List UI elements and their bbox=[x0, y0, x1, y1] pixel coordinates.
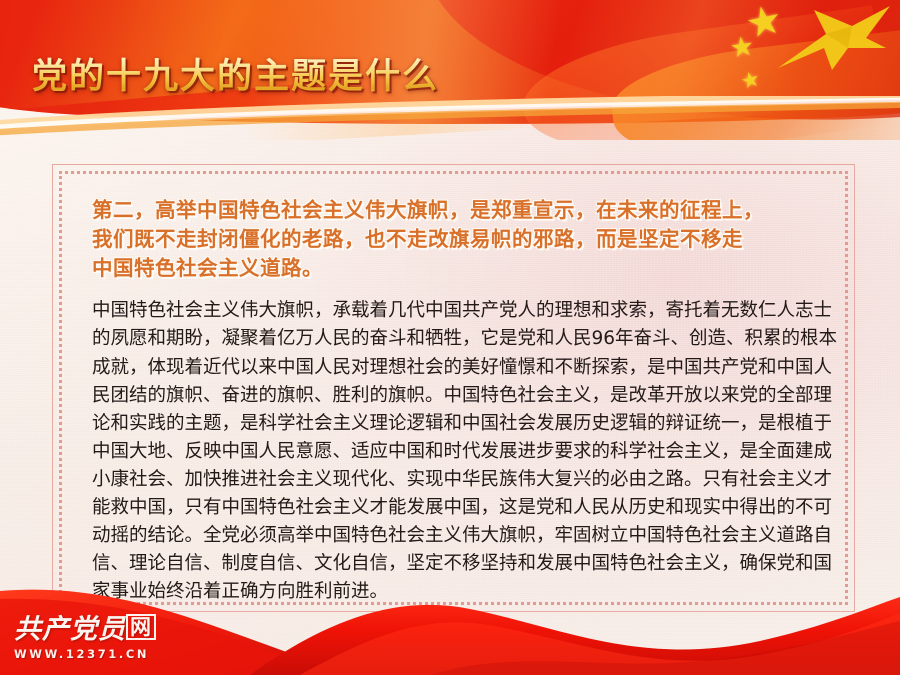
body-line: 能救中国，只有中国特色社会主义才能发展中国，这是党和人民从历史和现实中得出的不可 bbox=[92, 494, 815, 522]
body-line: 中国特色社会主义伟大旗帜，承载着几代中国共产党人的理想和求索，寄托着无数仁人志士 bbox=[92, 297, 815, 325]
page-title: 党的十九大的主题是什么 bbox=[32, 48, 439, 99]
poster-root: ★ ★ ★ 党的十九大的主题是什么 第二，高举中国特色社会主义伟大旗帜，是郑重宣… bbox=[0, 0, 900, 675]
content-card: 第二，高举中国特色社会主义伟大旗帜，是郑重宣示，在未来的征程上， 我们既不走封闭… bbox=[52, 164, 855, 612]
body-line: 小康社会、加快推进社会主义现代化、实现中华民族伟大复兴的必由之路。只有社会主义才 bbox=[92, 466, 815, 494]
logo-url: WWW.12371.CN bbox=[14, 647, 199, 661]
site-logo[interactable]: 共产党员网 WWW.12371.CN bbox=[14, 614, 199, 661]
star-medium-icon: ★ bbox=[728, 32, 756, 62]
body-line: 民团结的旗帜、奋进的旗帜、胜利的旗帜。中国特色社会主义，是改革开放以来党的全部理 bbox=[92, 382, 815, 410]
top-banner: ★ ★ ★ 党的十九大的主题是什么 bbox=[0, 0, 900, 140]
body-line: 动摇的结论。全党必须高举中国特色社会主义伟大旗帜，牢固树立中国特色社会主义道路自 bbox=[92, 522, 815, 550]
star-ribbon-icon bbox=[774, 4, 894, 74]
logo-wordmark: 共产党员网 bbox=[14, 614, 199, 644]
content-card-inner-border: 第二，高举中国特色社会主义伟大旗帜，是郑重宣示，在未来的征程上， 我们既不走封闭… bbox=[59, 171, 848, 605]
body-line: 中国大地、反映中国人民意愿、适应中国和时代发展进步要求的科学社会主义，是全面建成 bbox=[92, 438, 815, 466]
body-line: 论和实践的主题，是科学社会主义理论逻辑和中国社会发展历史逻辑的辩证统一，是根植于 bbox=[92, 410, 815, 438]
body-line: 成就，体现着近代以来中国人民对理想社会的美好憧憬和不断探索，是中国共产党和中国人 bbox=[92, 354, 815, 382]
lead-line: 中国特色社会主义道路。 bbox=[92, 254, 815, 283]
lead-paragraph: 第二，高举中国特色社会主义伟大旗帜，是郑重宣示，在未来的征程上， 我们既不走封闭… bbox=[92, 196, 815, 283]
logo-text: 共产党员 bbox=[14, 614, 126, 645]
star-small-icon: ★ bbox=[739, 68, 762, 93]
logo-boxed-character: 网 bbox=[126, 614, 156, 640]
lead-line: 第二，高举中国特色社会主义伟大旗帜，是郑重宣示，在未来的征程上， bbox=[92, 196, 815, 225]
flag-stars-group: ★ ★ ★ bbox=[690, 0, 900, 110]
lead-line: 我们既不走封闭僵化的老路，也不走改旗易帜的邪路，而是坚定不移走 bbox=[92, 225, 815, 254]
body-line: 的夙愿和期盼，凝聚着亿万人民的奋斗和牺牲，它是党和人民96年奋斗、创造、积累的根… bbox=[92, 325, 815, 353]
